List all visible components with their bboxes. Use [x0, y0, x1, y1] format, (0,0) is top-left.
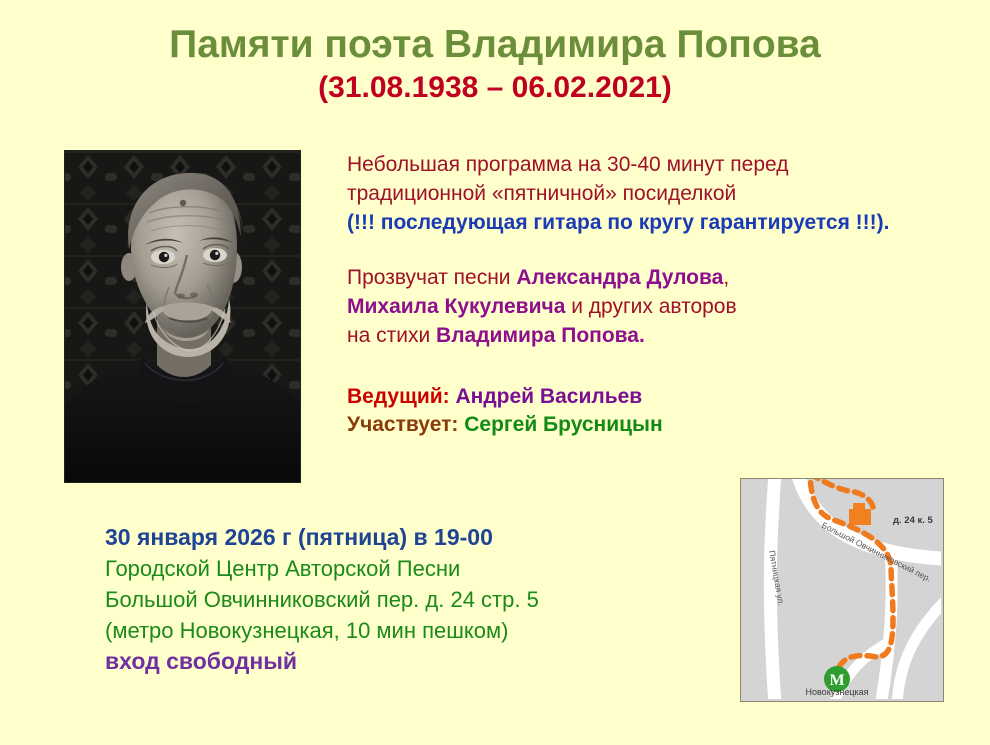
author-name-dulov: Александра Дулова	[516, 266, 723, 289]
songs-line-1: Прозвучат песни Александра Дулова,	[347, 263, 947, 292]
spacer-2	[347, 350, 947, 383]
event-datetime: 30 января 2026 г (пятница) в 19-00	[105, 522, 705, 553]
songs-line1-prefix: Прозвучат песни	[347, 266, 516, 289]
host-name-value: Андрей Васильев	[456, 385, 643, 408]
songs-line1-suffix: ,	[723, 266, 729, 289]
songs-line-2: Михаила Кукулевича и других авторов	[347, 292, 947, 321]
program-line-1: Небольшая программа на 30-40 минут перед	[347, 150, 947, 179]
guest-label: Участвует:	[347, 413, 458, 436]
page-title: Памяти поэта Владимира Попова	[0, 22, 990, 68]
map-image: M д. 24 к. 5 Большой Овчинниковский пер.…	[741, 479, 941, 699]
map-metro-label: Новокузнецкая	[806, 687, 869, 697]
poster-header: Памяти поэта Владимира Попова (31.08.193…	[0, 22, 990, 106]
program-line-2: традиционной «пятничной» посиделкой	[347, 179, 947, 208]
host-line: Ведущий: Андрей Васильев	[347, 383, 947, 411]
title-dates: (31.08.1938 – 06.02.2021)	[0, 70, 990, 106]
poet-name-popov: Владимира Попова	[436, 324, 639, 347]
location-map[interactable]: M д. 24 к. 5 Большой Овчинниковский пер.…	[740, 478, 944, 702]
guest-line: Участвует: Сергей Брусницын	[347, 411, 947, 439]
portrait-image	[65, 151, 300, 482]
program-line-3: (!!! последующая гитара по кругу гаранти…	[347, 208, 947, 237]
event-info-block: 30 января 2026 г (пятница) в 19-00 Город…	[105, 522, 705, 677]
songs-line3-suffix: .	[639, 324, 645, 347]
songs-line3-prefix: на стихи	[347, 324, 436, 347]
event-address: Большой Овчинниковский пер. д. 24 стр. 5	[105, 584, 705, 615]
songs-line2-suffix: и других авторов	[565, 295, 736, 318]
guest-name-value: Сергей Брусницын	[464, 413, 662, 436]
program-text-column: Небольшая программа на 30-40 минут перед…	[347, 150, 947, 439]
event-metro: (метро Новокузнецкая, 10 мин пешком)	[105, 615, 705, 646]
host-label: Ведущий:	[347, 385, 450, 408]
event-venue: Городской Центр Авторской Песни	[105, 553, 705, 584]
songs-line-3: на стихи Владимира Попова.	[347, 321, 947, 350]
portrait-photo	[65, 151, 300, 482]
author-name-kukulevich: Михаила Кукулевича	[347, 295, 565, 318]
spacer-1	[347, 237, 947, 263]
map-building-label: д. 24 к. 5	[893, 515, 934, 526]
event-entry: вход свободный	[105, 646, 705, 677]
poster-root: Памяти поэта Владимира Попова (31.08.193…	[0, 0, 990, 745]
